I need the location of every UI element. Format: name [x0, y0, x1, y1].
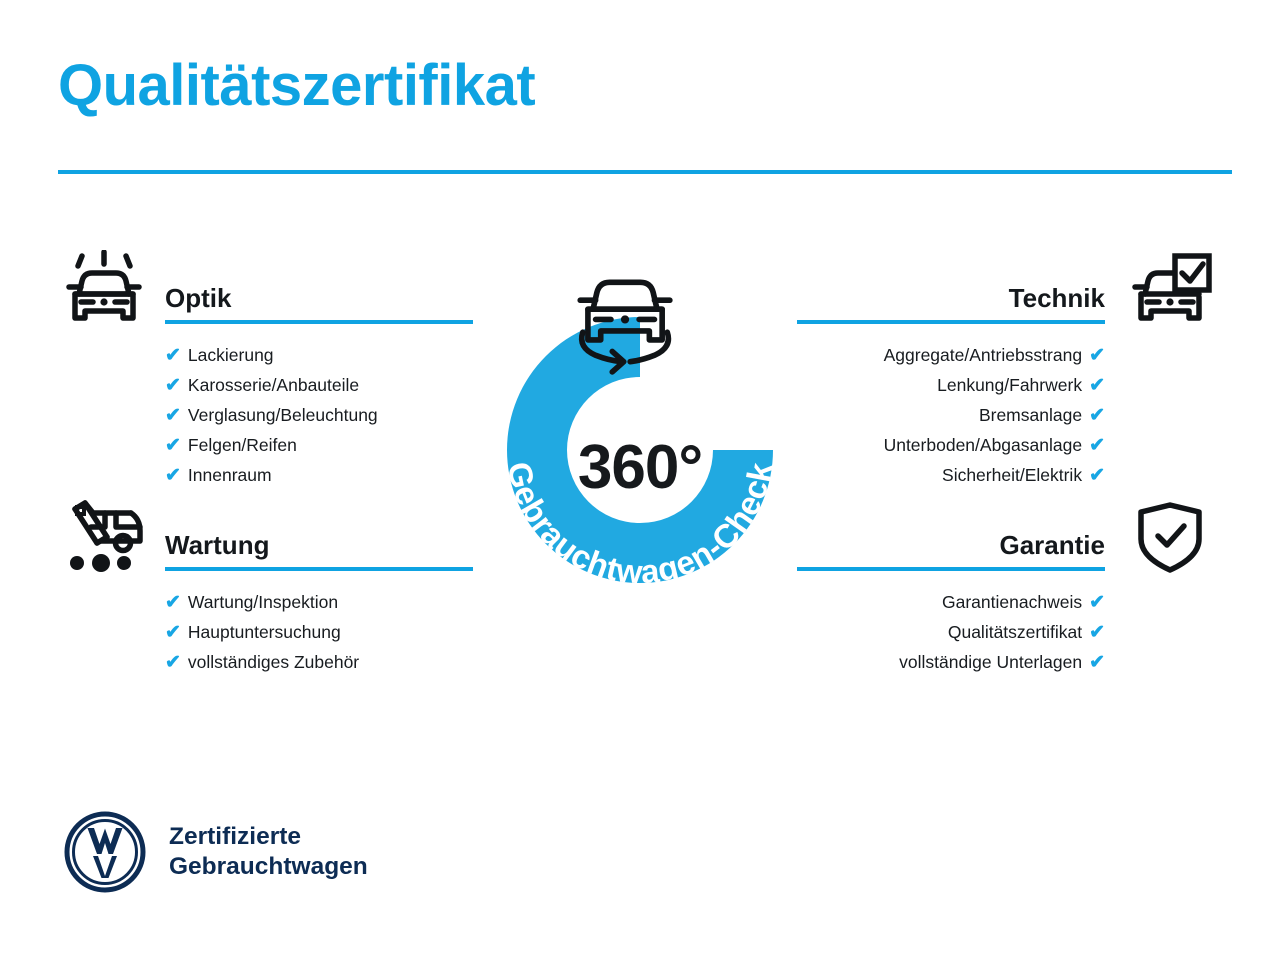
checklist-wartung: ✔Wartung/Inspektion ✔Hauptuntersuchung ✔…	[165, 587, 475, 677]
vw-footer-line2: Gebrauchtwagen	[169, 852, 368, 882]
check-icon: ✔	[165, 406, 181, 425]
check-icon: ✔	[165, 376, 181, 395]
list-item-label: Karosserie/Anbauteile	[188, 370, 359, 400]
list-item: Aggregate/Antriebsstrang✔	[795, 340, 1105, 370]
check-icon: ✔	[165, 653, 181, 672]
list-item-label: Wartung/Inspektion	[188, 587, 338, 617]
list-item-label: vollständiges Zubehör	[188, 647, 359, 677]
section-title-wartung: Wartung	[165, 530, 269, 561]
check-icon: ✔	[1089, 346, 1105, 365]
vw-footer-line1: Zertifizierte	[169, 822, 368, 852]
section-divider-garantie	[797, 567, 1105, 571]
list-item-label: Sicherheit/Elektrik	[942, 460, 1082, 490]
check-icon: ✔	[1089, 653, 1105, 672]
section-header-optik: Optik	[55, 258, 475, 336]
vw-footer: Zertifizierte Gebrauchtwagen	[63, 810, 368, 894]
section-technik: Technik Aggregate/Antriebsstrang✔ Lenkun…	[795, 258, 1215, 490]
list-item: ✔Karosserie/Anbauteile	[165, 370, 475, 400]
list-item-label: Qualitätszertifikat	[948, 617, 1082, 647]
check-icon: ✔	[165, 623, 181, 642]
check-icon: ✔	[165, 436, 181, 455]
section-wartung: Wartung ✔Wartung/Inspektion ✔Hauptunters…	[55, 505, 475, 677]
section-header-garantie: Garantie	[795, 505, 1215, 583]
check-icon: ✔	[165, 346, 181, 365]
list-item-label: Hauptuntersuchung	[188, 617, 341, 647]
list-item: ✔Verglasung/Beleuchtung	[165, 400, 475, 430]
list-item-label: Felgen/Reifen	[188, 430, 297, 460]
section-garantie: Garantie Garantienachweis✔ Qualitätszert…	[795, 505, 1215, 677]
car-service-pen-icon	[61, 497, 147, 577]
check-icon: ✔	[1089, 376, 1105, 395]
section-header-wartung: Wartung	[55, 505, 475, 583]
list-item: ✔Innenraum	[165, 460, 475, 490]
check-icon: ✔	[165, 466, 181, 485]
check-icon: ✔	[1089, 593, 1105, 612]
checklist-optik: ✔Lackierung ✔Karosserie/Anbauteile ✔Verg…	[165, 340, 475, 490]
section-divider-wartung	[165, 567, 473, 571]
section-title-technik: Technik	[1009, 283, 1105, 314]
list-item: Qualitätszertifikat✔	[795, 617, 1105, 647]
list-item: Bremsanlage✔	[795, 400, 1105, 430]
section-header-technik: Technik	[795, 258, 1215, 336]
certificate-page: Qualitätszertifikat	[0, 0, 1280, 960]
check-icon: ✔	[1089, 406, 1105, 425]
car-shine-icon	[61, 250, 147, 330]
list-item: ✔Wartung/Inspektion	[165, 587, 475, 617]
check-icon: ✔	[165, 593, 181, 612]
checklist-garantie: Garantienachweis✔ Qualitätszertifikat✔ v…	[795, 587, 1105, 677]
list-item: ✔Felgen/Reifen	[165, 430, 475, 460]
list-item: ✔Lackierung	[165, 340, 475, 370]
list-item-label: vollständige Unterlagen	[899, 647, 1082, 677]
section-title-garantie: Garantie	[1000, 530, 1106, 561]
badge-360-check: Gebrauchtwagen-Check	[466, 244, 814, 634]
list-item-label: Verglasung/Beleuchtung	[188, 400, 378, 430]
list-item-label: Bremsanlage	[979, 400, 1082, 430]
list-item: vollständige Unterlagen✔	[795, 647, 1105, 677]
badge-center-label: 360°	[466, 432, 814, 503]
list-item-label: Innenraum	[188, 460, 272, 490]
check-icon: ✔	[1089, 466, 1105, 485]
header-divider	[58, 170, 1232, 174]
list-item: Unterboden/Abgasanlage✔	[795, 430, 1105, 460]
vw-logo	[63, 810, 147, 894]
list-item: Sicherheit/Elektrik✔	[795, 460, 1105, 490]
vw-footer-text: Zertifizierte Gebrauchtwagen	[169, 822, 368, 882]
checklist-technik: Aggregate/Antriebsstrang✔ Lenkung/Fahrwe…	[795, 340, 1105, 490]
car-checkbox-icon	[1127, 250, 1213, 330]
list-item-label: Lackierung	[188, 340, 274, 370]
list-item: ✔vollständiges Zubehör	[165, 647, 475, 677]
list-item-label: Unterboden/Abgasanlage	[884, 430, 1083, 460]
section-title-optik: Optik	[165, 283, 231, 314]
section-divider-optik	[165, 320, 473, 324]
check-icon: ✔	[1089, 623, 1105, 642]
list-item: Lenkung/Fahrwerk✔	[795, 370, 1105, 400]
list-item-label: Lenkung/Fahrwerk	[937, 370, 1082, 400]
list-item: ✔Hauptuntersuchung	[165, 617, 475, 647]
list-item-label: Aggregate/Antriebsstrang	[884, 340, 1082, 370]
check-icon: ✔	[1089, 436, 1105, 455]
page-title: Qualitätszertifikat	[58, 57, 535, 115]
shield-check-icon	[1127, 497, 1213, 577]
list-item-label: Garantienachweis	[942, 587, 1082, 617]
section-divider-technik	[797, 320, 1105, 324]
section-optik: Optik ✔Lackierung ✔Karosserie/Anbauteile…	[55, 258, 475, 490]
list-item: Garantienachweis✔	[795, 587, 1105, 617]
